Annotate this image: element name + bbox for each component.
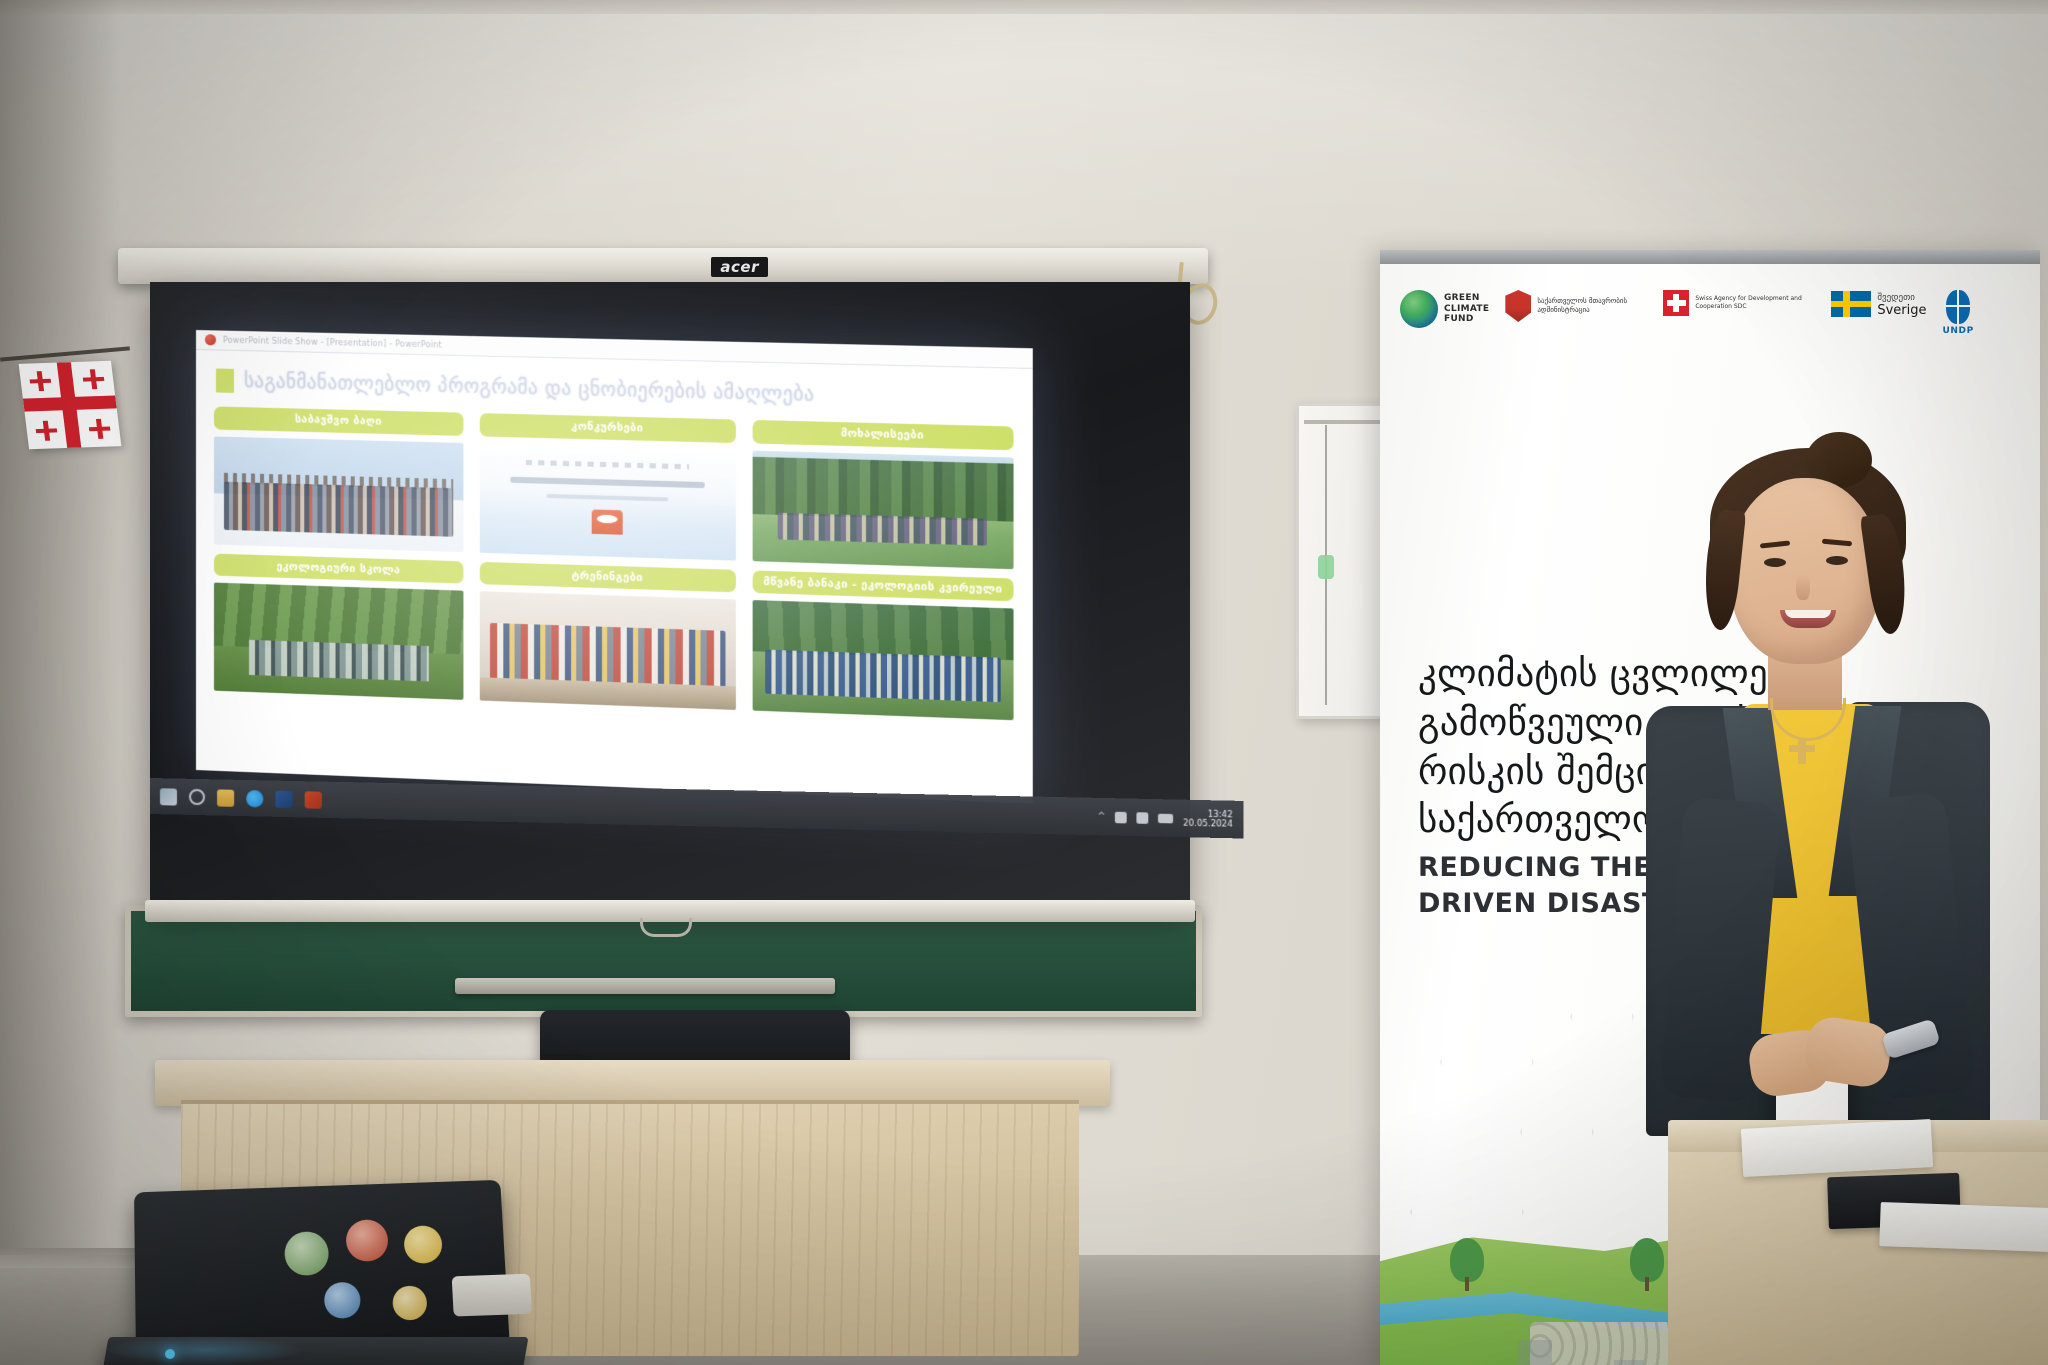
banner-top-rail	[1380, 250, 2040, 264]
slide-card-photo-volunteers	[752, 450, 1013, 569]
taskbar-icon-group[interactable]	[160, 788, 322, 809]
sticker-icon	[324, 1282, 361, 1319]
search-icon[interactable]	[189, 789, 205, 805]
globe-icon	[1400, 290, 1438, 328]
teeth	[1785, 610, 1831, 618]
volume-icon[interactable]	[1137, 812, 1149, 824]
undp-logo-text: UNDP	[1942, 326, 1973, 336]
swedish-flag-icon	[1831, 291, 1871, 317]
slide-card-photo-group-snow	[214, 436, 464, 552]
green-climate-fund-logo: GREEN CLIMATE FUND	[1400, 290, 1489, 328]
banner-tree-icon	[1450, 1238, 1484, 1282]
georgia-gov-emblem-logo: საქართველოს მთავრობის ადმინისტრაცია	[1505, 290, 1647, 322]
eye-left	[1764, 558, 1786, 567]
sticker-icon	[284, 1231, 329, 1276]
slide-card-heading: მოხალისეები	[752, 420, 1013, 450]
screen-pull-handle[interactable]	[640, 918, 692, 937]
projected-slide[interactable]: PowerPoint Slide Show - [Presentation] -…	[196, 330, 1033, 804]
slide-card-photo-green-camp	[752, 600, 1013, 720]
clock-date: 20.05.2024	[1183, 818, 1233, 829]
slide-title-row: საგანმანათლებლო პროგრამა და ცნობიერების …	[216, 368, 1018, 412]
swiss-cooperation-logo: Swiss Agency for Development and Coopera…	[1663, 290, 1815, 316]
slide-card-heading: კონკურსები	[480, 413, 735, 443]
slide-card-photo-eco-school	[214, 583, 464, 700]
laptop-lid	[134, 1180, 509, 1352]
start-icon[interactable]	[160, 788, 177, 805]
sverige-logo-text: შვედეთი Sverige	[1877, 290, 1926, 319]
taskbar-clock[interactable]: 13:42 20.05.2024	[1183, 809, 1233, 829]
sticker-icon	[392, 1285, 428, 1320]
cross-pendant-icon	[1798, 738, 1806, 764]
powerpoint-icon	[204, 333, 217, 346]
power-led-icon	[165, 1349, 175, 1359]
sticker-icon	[452, 1274, 532, 1317]
head	[1730, 478, 1880, 664]
gcf-logo-text: GREEN CLIMATE FUND	[1444, 293, 1489, 324]
undp-globe-icon	[1946, 290, 1970, 324]
sticker-icon	[345, 1219, 389, 1262]
laptop-screen-glow	[105, 1335, 305, 1365]
swiss-logo-text: Swiss Agency for Development and Coopera…	[1695, 295, 1815, 311]
slide-card-photo-training	[480, 591, 735, 710]
slide-body: საგანმანათლებლო პროგრამა და ცნობიერების …	[196, 350, 1033, 804]
slide-card: მწვანე ბანაკი - ეკოლოგიის კვირეული	[752, 570, 1013, 721]
slide-card-heading: მწვანე ბანაკი - ეკოლოგიის კვირეული	[752, 570, 1013, 602]
nose	[1796, 574, 1810, 600]
slide-card-heading: ტრენინგები	[480, 562, 735, 593]
loose-papers	[1879, 1202, 2048, 1252]
system-tray[interactable]: ^ 13:42 20.05.2024	[1097, 807, 1232, 829]
slide-card: ტრენინგები	[480, 562, 735, 711]
georgian-flag	[19, 361, 122, 450]
chalk-tray	[455, 978, 835, 994]
paper-stack	[1741, 1119, 1933, 1177]
slide-card: ეკოლოგიური სკოლა	[214, 553, 464, 700]
slide-card: მოხალისეები	[752, 420, 1013, 569]
slide-card: საბავშვო ბაღი	[214, 406, 464, 551]
swiss-cross-icon	[1663, 290, 1689, 316]
projector-screen-case: acer	[118, 248, 1208, 284]
slide-card: კონკურსები	[480, 413, 735, 560]
slide-title-marker-icon	[216, 368, 234, 392]
banner-logo-row: GREEN CLIMATE FUND საქართველოს მთავრობის…	[1400, 290, 2020, 370]
slide-card-grid: საბავშვო ბაღი კონკურსები მოხალისეები	[210, 406, 1018, 720]
gov-logo-text: საქართველოს მთავრობის ადმინისტრაცია	[1537, 297, 1647, 315]
sticker-icon	[403, 1225, 443, 1264]
powerpoint-icon[interactable]	[305, 791, 322, 808]
ceiling-edge	[0, 0, 2048, 14]
powerpoint-title-text: PowerPoint Slide Show - [Presentation] -…	[223, 336, 442, 350]
edge-icon[interactable]	[246, 790, 263, 807]
acer-brand-label: acer	[711, 257, 768, 277]
wall-shadow	[0, 0, 120, 1365]
whiteboard-magnet	[1318, 555, 1334, 579]
battery-icon[interactable]	[1158, 813, 1173, 823]
slide-card-heading: ეკოლოგიური სკოლა	[214, 553, 464, 584]
slide-card-heading: საბავშვო ბაღი	[214, 406, 464, 435]
chevron-up-icon[interactable]: ^	[1097, 811, 1105, 822]
network-icon[interactable]	[1115, 811, 1127, 823]
clock-time: 13:42	[1208, 809, 1233, 819]
file-explorer-icon[interactable]	[217, 789, 234, 806]
coat-of-arms-icon	[1505, 290, 1531, 322]
undp-logo: UNDP	[1942, 290, 1973, 336]
sverige-logo: შვედეთი Sverige	[1831, 290, 1926, 319]
slide-title: საგანმანათლებლო პროგრამა და ცნობიერების …	[244, 370, 814, 406]
word-icon[interactable]	[275, 790, 292, 807]
presentation-room-scene: acer PowerPoint Slide Show - [Presentati…	[0, 0, 2048, 1365]
sticker-covered-laptop[interactable]	[105, 1185, 505, 1365]
slide-card-photo-poster	[480, 443, 735, 560]
eye-right	[1826, 556, 1848, 565]
